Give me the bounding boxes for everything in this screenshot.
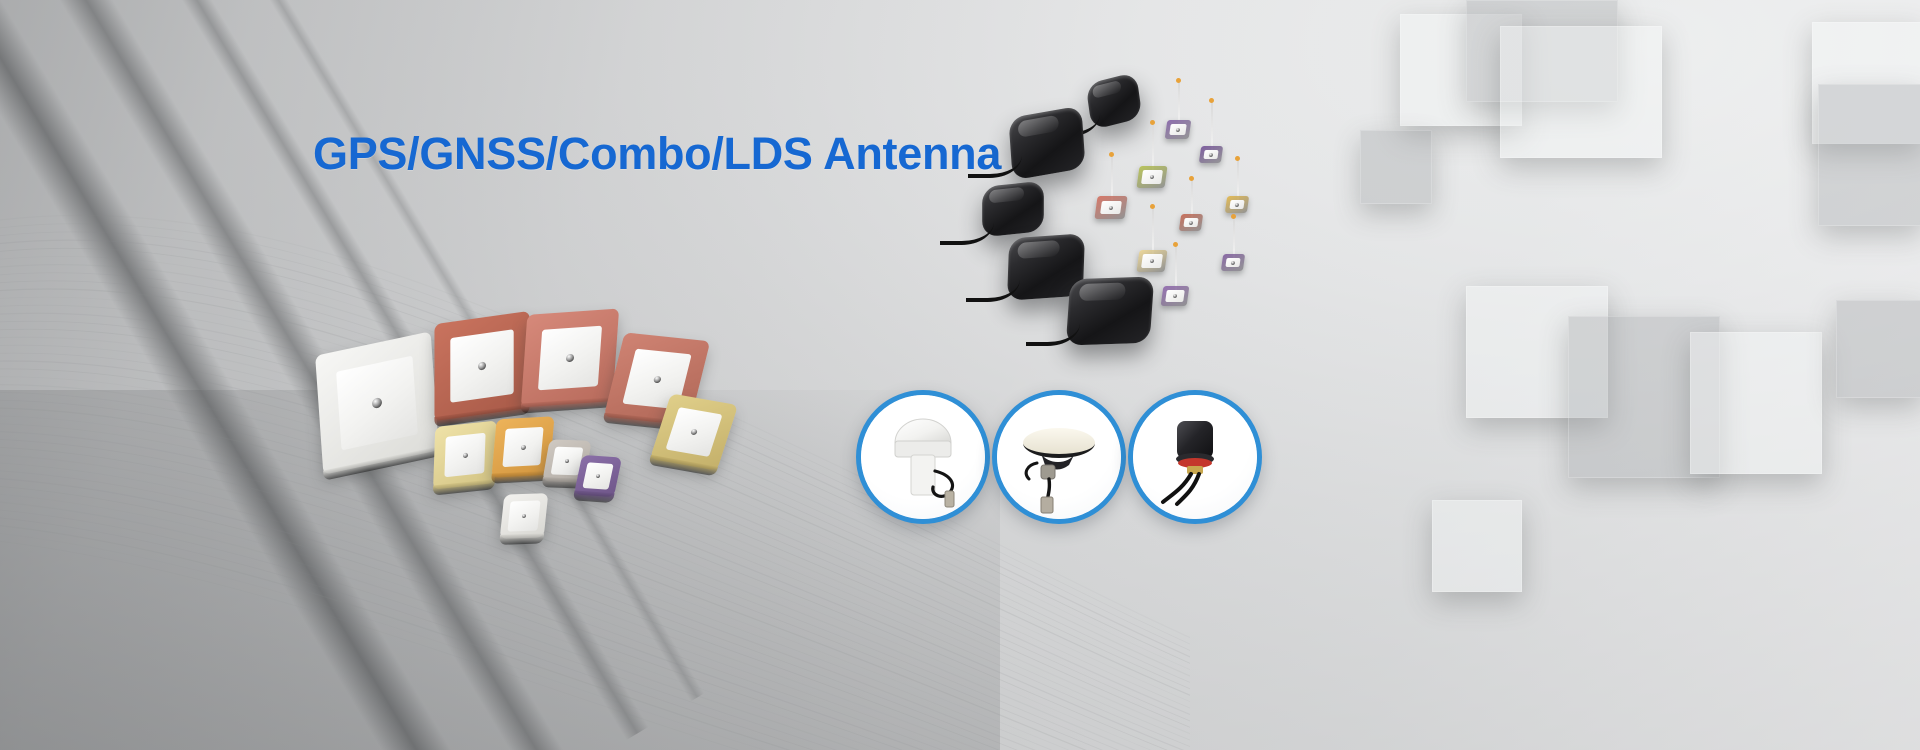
patch-feed-pin (520, 444, 525, 449)
probe-needle (1152, 208, 1154, 254)
probe-feed-pin (1209, 153, 1214, 157)
probe-needle (1175, 246, 1177, 290)
probe-feed-pin (1109, 206, 1114, 210)
probe-feed-pin (1231, 261, 1236, 265)
square-3 (1500, 26, 1662, 158)
probe-violet-1 (1166, 78, 1190, 144)
probe-patch-body (1221, 254, 1245, 271)
probe-tip (1173, 242, 1178, 247)
promo-banner: GPS/GNSS/Combo/LDS Antenna (0, 0, 1920, 750)
violet-mini-patch (574, 455, 622, 497)
patch-side-wall (648, 455, 718, 476)
square-7 (1466, 286, 1608, 418)
probe-needle (1233, 218, 1235, 258)
probe-patch-body (1179, 214, 1203, 231)
white-large-patch (315, 331, 439, 474)
patch-side-wall (520, 397, 612, 413)
cream-patch (433, 420, 497, 489)
probe-tip (1109, 152, 1114, 157)
probe-needle (1191, 180, 1193, 218)
probe-needle (1152, 124, 1154, 170)
badge-screw-antenna[interactable] (1128, 390, 1262, 524)
probe-patch-body (1136, 166, 1167, 188)
antenna-cable (940, 207, 994, 245)
square-6 (1818, 84, 1920, 226)
probe-feed-pin (1176, 128, 1181, 132)
square-4 (1360, 130, 1432, 204)
patch-side-wall (573, 490, 615, 503)
salmon-patch-2 (521, 308, 619, 407)
probe-needle (1237, 160, 1239, 200)
probe-patch-body (1225, 196, 1249, 213)
probe-patch-body (1165, 120, 1192, 139)
probe-tip (1150, 120, 1155, 125)
probe-patch-body (1161, 286, 1190, 306)
square-2 (1466, 0, 1618, 102)
probe-tip (1176, 78, 1181, 83)
probe-needle (1178, 82, 1180, 124)
probe-purple (1162, 242, 1188, 312)
badge-inner-surface (997, 395, 1121, 519)
square-8 (1568, 316, 1720, 478)
patch-side-wall (323, 446, 439, 481)
probe-tip (1209, 98, 1214, 103)
probe-tip (1231, 214, 1236, 219)
probe-tip (1150, 204, 1155, 209)
badge-inner-surface (1133, 395, 1257, 519)
probe-rust (1180, 176, 1202, 236)
probe-needle (1111, 156, 1113, 200)
patch-side-wall (433, 479, 495, 496)
probe-feed-pin (1235, 203, 1240, 207)
probe-olive (1138, 120, 1166, 194)
patch-feed-pin (462, 452, 467, 458)
terracotta-patch-1 (434, 311, 529, 421)
probe-gold (1226, 156, 1248, 218)
page-title: GPS/GNSS/Combo/LDS Antenna (313, 128, 1001, 180)
square-11 (1836, 300, 1920, 398)
probe-salmon (1096, 152, 1126, 226)
badge-inner-surface (861, 395, 985, 519)
white-mini-patch (500, 493, 549, 539)
probe-tip (1189, 176, 1194, 181)
square-10 (1690, 332, 1822, 474)
square-9 (1432, 500, 1522, 592)
badge-disc-antenna[interactable] (992, 390, 1126, 524)
badge-dome-antenna[interactable] (856, 390, 990, 524)
patch-side-wall (491, 471, 550, 484)
probe-patch-body (1094, 196, 1127, 219)
probe-violet-2 (1200, 98, 1222, 168)
probe-tip (1235, 156, 1240, 161)
square-1 (1400, 14, 1522, 126)
square-5 (1812, 22, 1920, 144)
diagonal-band-decoration (0, 0, 1481, 750)
probe-needle (1211, 102, 1213, 150)
background-gradient-sweep (0, 0, 1920, 750)
patch-side-wall (499, 533, 544, 545)
probe-plum (1222, 214, 1244, 276)
probe-feed-pin (1189, 221, 1194, 225)
decorative-squares-group (1360, 0, 1920, 700)
probe-patch-body (1199, 146, 1223, 163)
